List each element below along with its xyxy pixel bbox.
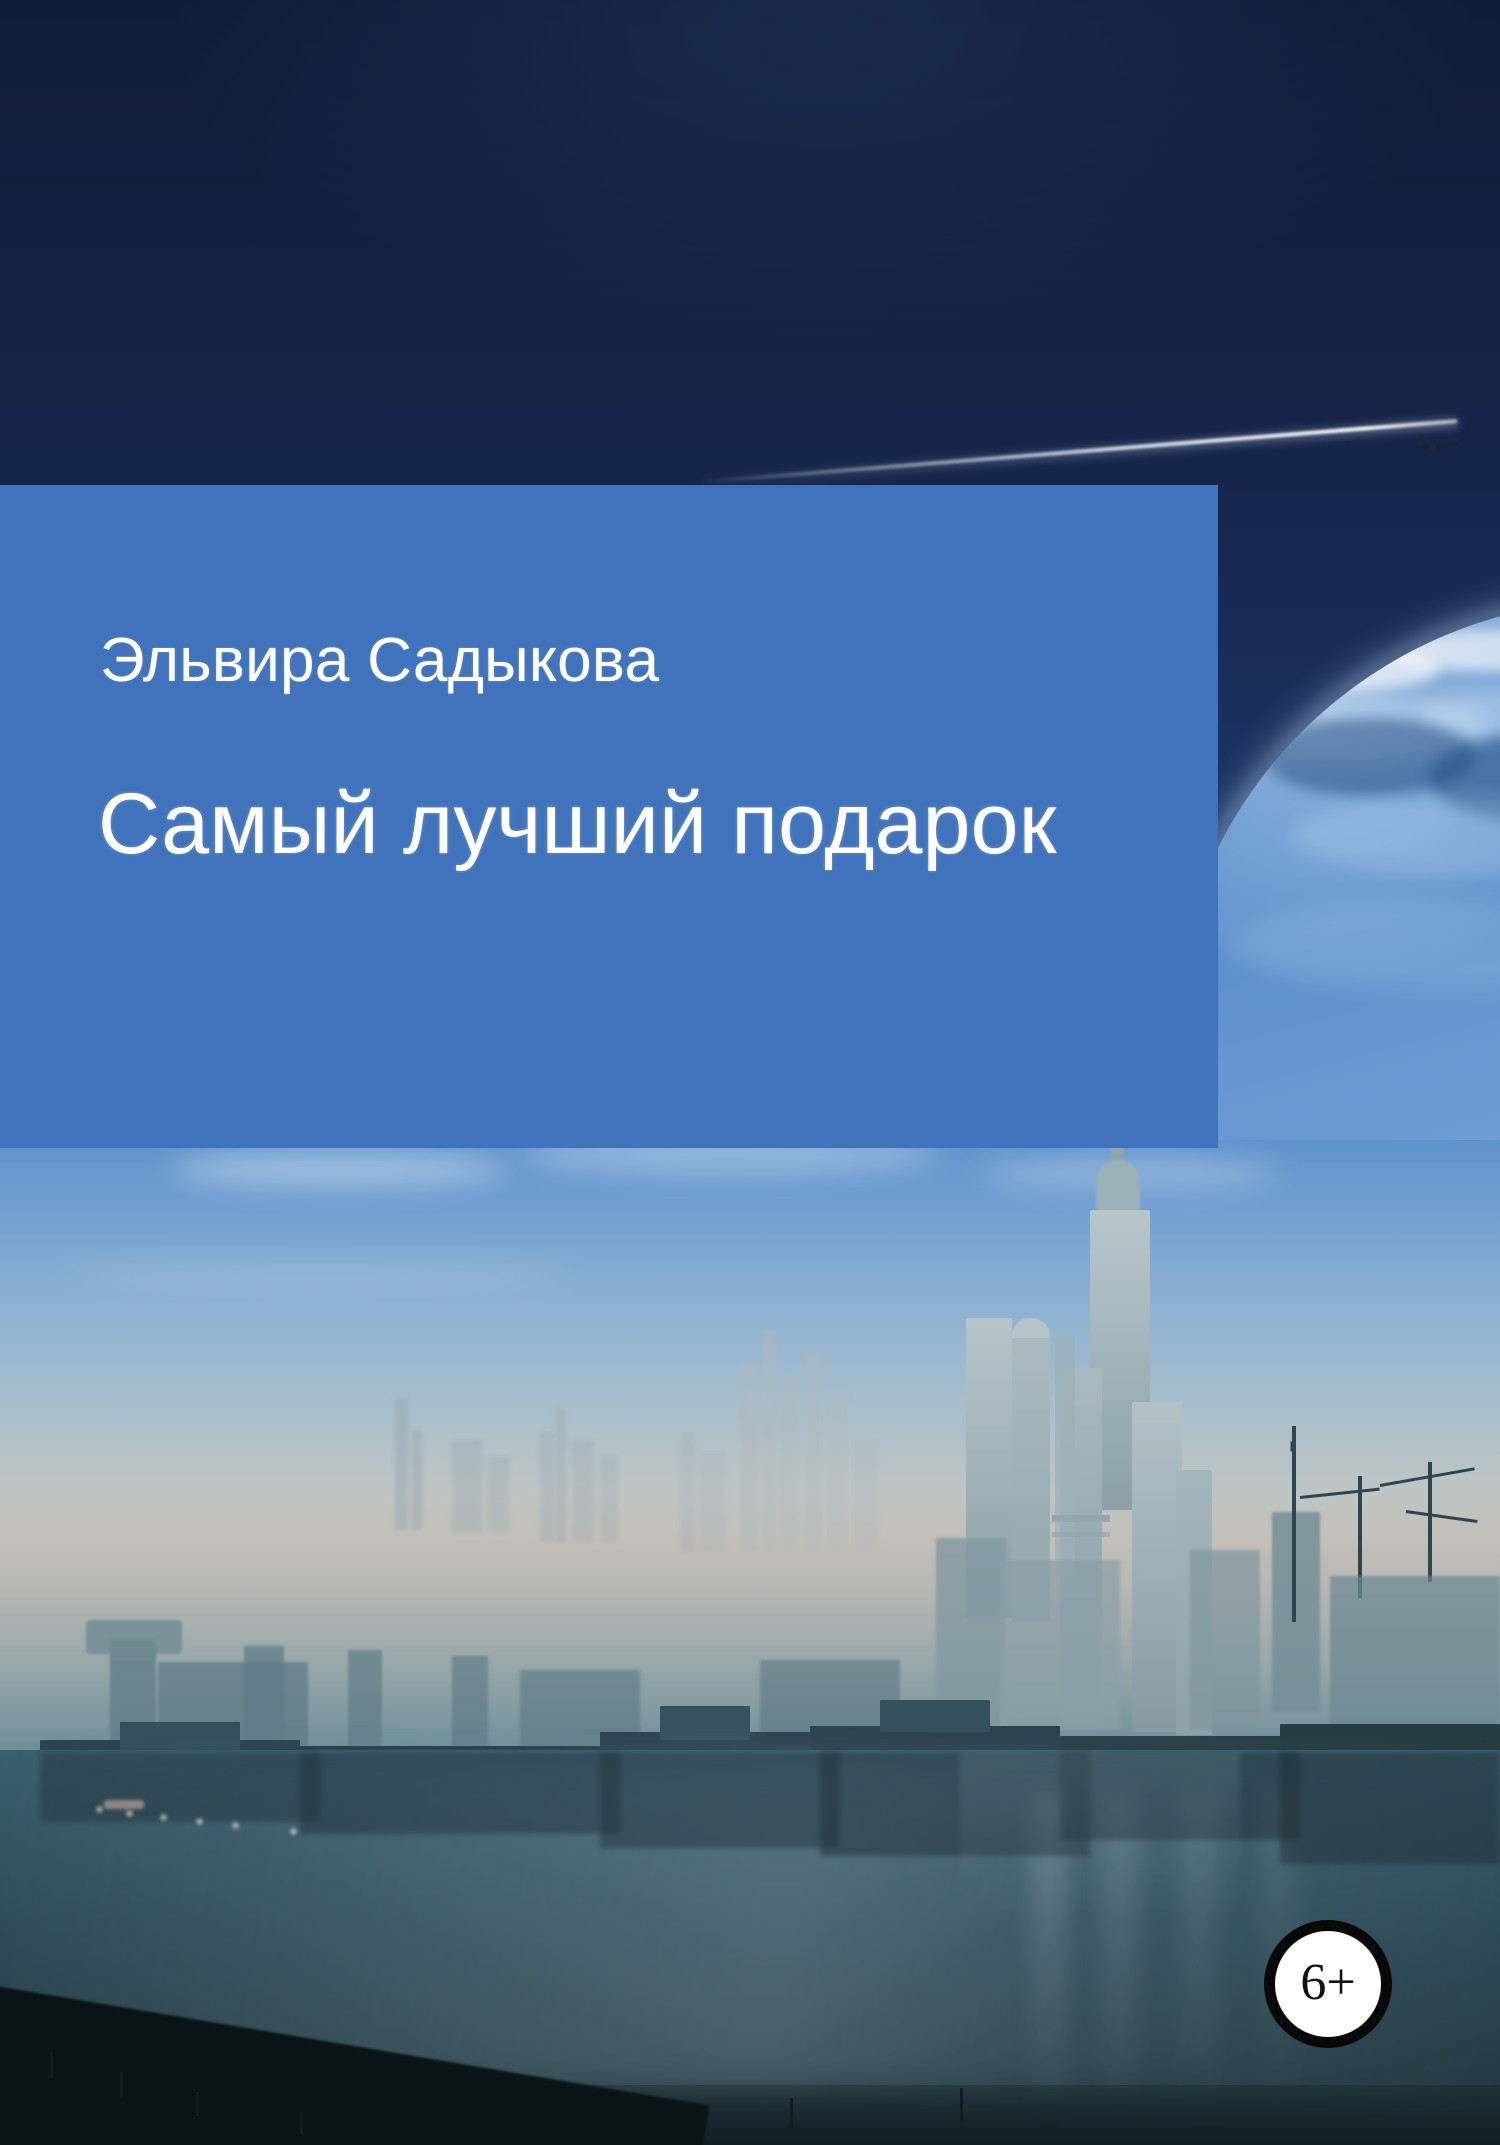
water-reflection-towers (960, 1752, 1240, 1922)
airplane-icon (1414, 434, 1458, 456)
age-rating-badge: 6+ (1264, 1920, 1392, 2048)
foreground-shadow (0, 2085, 1500, 2145)
age-rating-label: 6+ (1300, 1957, 1355, 2009)
book-title: Самый лучший подарок (98, 775, 1057, 874)
author-name: Эльвира Садыкова (100, 625, 659, 696)
water-reflection (1280, 1752, 1500, 1864)
water-reflection (600, 1752, 840, 1848)
water-reflection (300, 1752, 620, 1834)
book-cover: Эльвира Садыкова Самый лучший подарок 6+ (0, 0, 1500, 2145)
water-reflection (40, 1752, 320, 1822)
